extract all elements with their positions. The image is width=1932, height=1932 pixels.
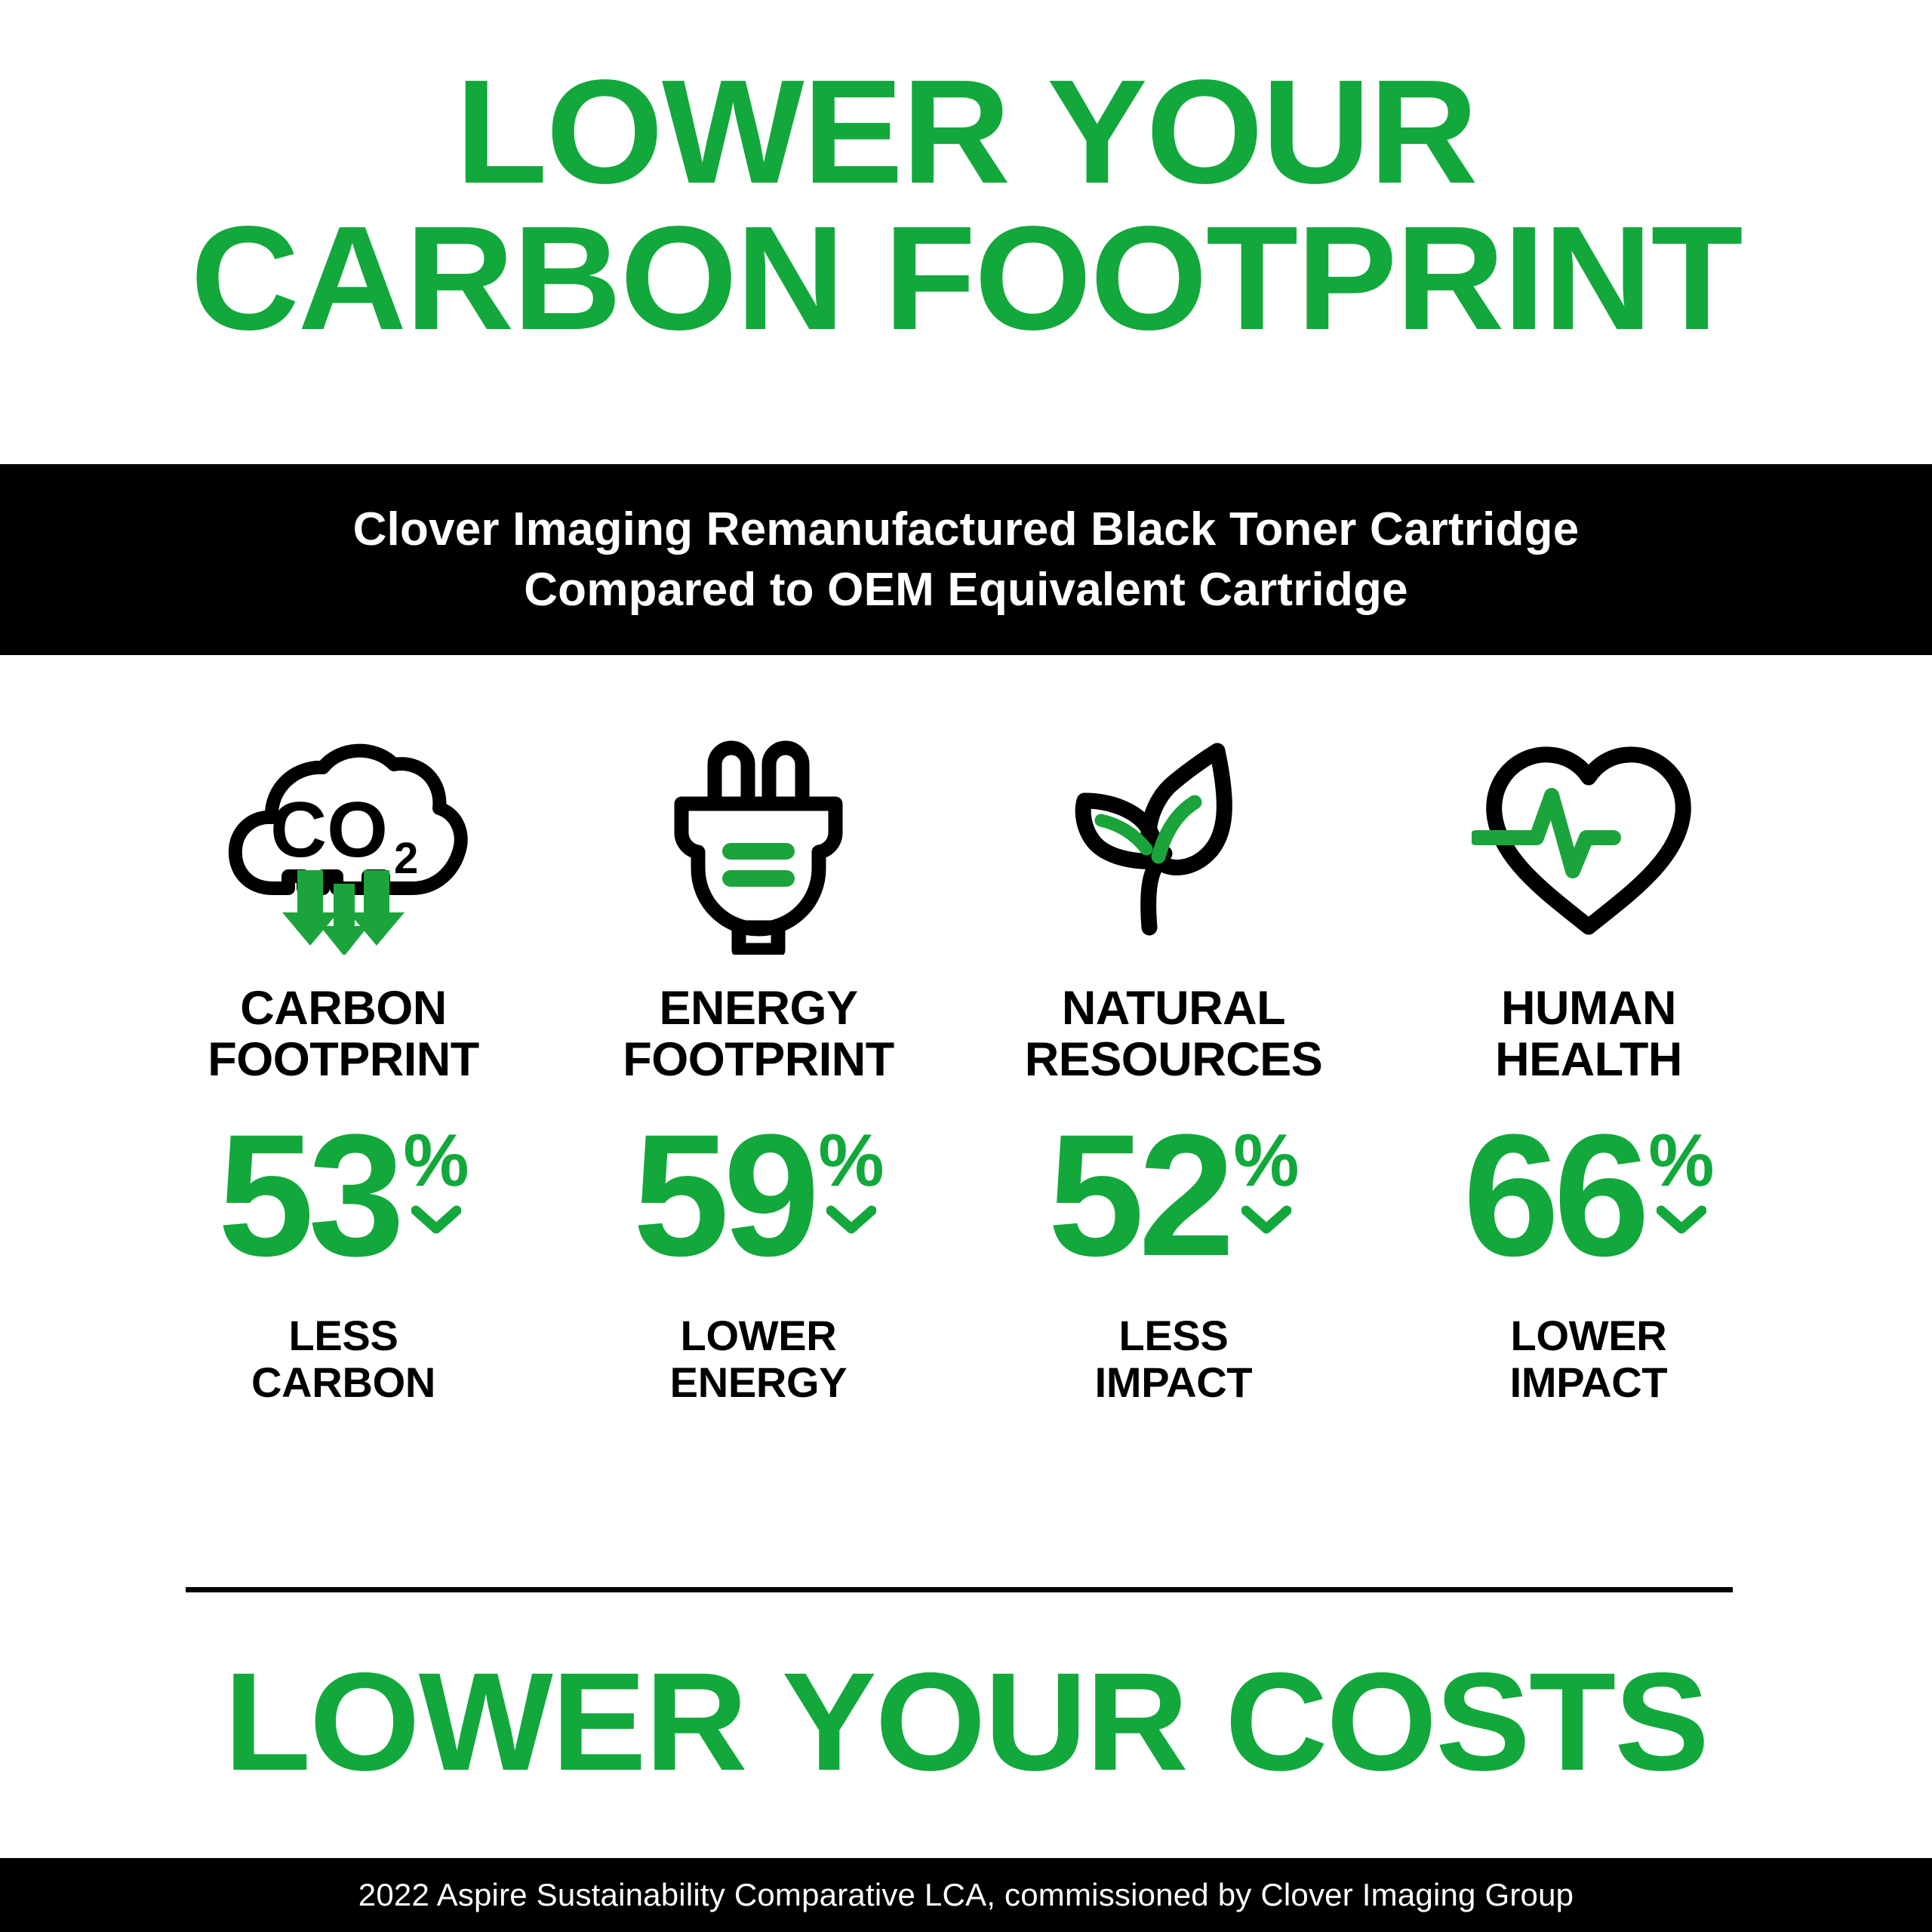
stat-category-label-line-1: NATURAL — [1062, 982, 1285, 1035]
stat-sub-label-line-1: LOWER — [1511, 1312, 1667, 1359]
stat-column-carbon-footprint: CO 2 CARBON FOOTPRINT 53 % — [136, 717, 551, 1407]
percent-sign: % — [1648, 1131, 1714, 1189]
stat-category-label: CARBON FOOTPRINT — [208, 983, 478, 1085]
stat-category-label-line-2: RESOURCES — [1025, 1033, 1323, 1086]
hero-headline-line-2: CARBON FOOTPRINT — [0, 205, 1932, 352]
stat-percentage-value: 53 — [218, 1124, 399, 1267]
hero-headline-line-1: LOWER YOUR — [0, 59, 1932, 205]
percent-sign: % — [1233, 1131, 1299, 1189]
chevron-down-icon — [826, 1204, 876, 1235]
stat-percentage: 66 % — [1463, 1124, 1715, 1267]
stat-sub-label: LESS IMPACT — [1095, 1312, 1253, 1407]
stat-column-natural-resources: NATURAL RESOURCES 52 % LESS IMPACT — [966, 717, 1381, 1407]
stat-sub-label-line-2: ENERGY — [670, 1358, 848, 1406]
co2-cloud-icon: CO 2 — [215, 717, 472, 966]
heart-pulse-icon — [1460, 717, 1717, 966]
percent-sign: % — [818, 1131, 884, 1189]
chevron-down-icon — [411, 1204, 461, 1235]
stat-percent-suffix: % — [403, 1124, 469, 1235]
stat-column-human-health: HUMAN HEALTH 66 % LOWER IMPACT — [1381, 717, 1796, 1407]
stat-sub-label-line-2: IMPACT — [1095, 1358, 1253, 1406]
source-footer-text: 2022 Aspire Sustainability Comparative L… — [358, 1877, 1574, 1913]
costs-headline: LOWER YOUR COSTS — [0, 1653, 1932, 1792]
stat-category-label-line-2: FOOTPRINT — [623, 1033, 894, 1086]
stat-sub-label-line-1: LESS — [1118, 1312, 1228, 1359]
stat-percentage: 53 % — [218, 1124, 469, 1267]
source-footer: 2022 Aspire Sustainability Comparative L… — [0, 1858, 1932, 1932]
hero-headline: LOWER YOUR CARBON FOOTPRINT — [0, 59, 1932, 352]
stat-percentage: 52 % — [1048, 1124, 1300, 1267]
stat-sub-label: LOWER IMPACT — [1510, 1312, 1668, 1407]
stat-category-label: HUMAN HEALTH — [1495, 983, 1682, 1085]
stat-percent-suffix: % — [1233, 1124, 1299, 1235]
stat-percentage: 59 % — [633, 1124, 884, 1267]
stat-percentage-value: 52 — [1048, 1124, 1229, 1267]
stat-percent-suffix: % — [1648, 1124, 1714, 1235]
stat-percentage-value: 59 — [633, 1124, 814, 1267]
stat-category-label-line-1: CARBON — [240, 982, 447, 1035]
stat-sub-label-line-2: IMPACT — [1510, 1358, 1668, 1406]
stats-grid: CO 2 CARBON FOOTPRINT 53 % — [136, 717, 1796, 1407]
stat-category-label-line-2: FOOTPRINT — [208, 1033, 478, 1086]
section-divider — [186, 1587, 1733, 1592]
stat-percent-suffix: % — [818, 1124, 884, 1235]
stat-category-label: ENERGY FOOTPRINT — [623, 983, 894, 1085]
stat-sub-label-line-1: LESS — [288, 1312, 398, 1359]
stat-category-label-line-2: HEALTH — [1495, 1033, 1682, 1086]
stat-sub-label-line-1: LOWER — [681, 1312, 837, 1359]
stat-sub-label-line-2: CARBON — [251, 1358, 435, 1406]
banner-line-1: Clover Imaging Remanufactured Black Tone… — [353, 500, 1580, 559]
banner-line-2: Compared to OEM Equivalent Cartridge — [524, 560, 1408, 620]
chevron-down-icon — [1657, 1204, 1706, 1235]
power-plug-icon — [630, 717, 887, 966]
svg-text:2: 2 — [394, 834, 418, 883]
stat-category-label: NATURAL RESOURCES — [1025, 983, 1323, 1085]
chevron-down-icon — [1241, 1204, 1291, 1235]
svg-text:CO: CO — [270, 786, 388, 874]
stat-percentage-value: 66 — [1463, 1124, 1644, 1267]
stat-sub-label: LESS CARBON — [251, 1312, 435, 1407]
leaf-plant-icon — [1045, 717, 1302, 966]
stat-category-label-line-1: ENERGY — [659, 982, 857, 1035]
stat-column-energy-footprint: ENERGY FOOTPRINT 59 % LOWER ENERGY — [551, 717, 966, 1407]
stat-sub-label: LOWER ENERGY — [670, 1312, 848, 1407]
percent-sign: % — [403, 1131, 469, 1189]
costs-headline-text: LOWER YOUR COSTS — [224, 1653, 1708, 1792]
stat-category-label-line-1: HUMAN — [1501, 982, 1676, 1035]
product-comparison-banner: Clover Imaging Remanufactured Black Tone… — [0, 464, 1932, 655]
infographic-page: LOWER YOUR CARBON FOOTPRINT Clover Imagi… — [0, 0, 1932, 1932]
